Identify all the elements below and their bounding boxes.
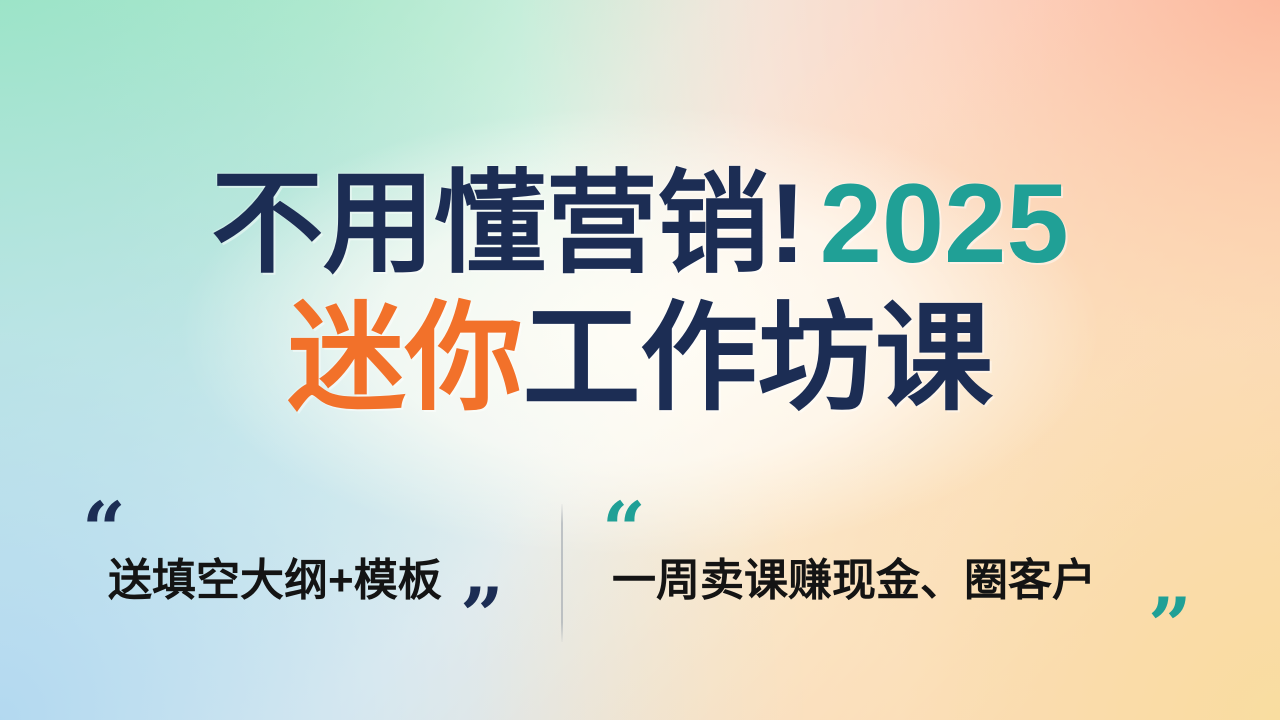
quote-text-right: 一周卖课赚现金、圈客户 xyxy=(612,544,1096,608)
headline-line-1: 不用懂营销!2025 xyxy=(0,168,1280,280)
headline-highlight-text: 迷你 xyxy=(287,293,522,425)
headline-line-2: 迷你工作坊课 xyxy=(0,300,1280,418)
quote-close-icon: ” xyxy=(1148,588,1192,664)
headline: 不用懂营销!2025 迷你工作坊课 xyxy=(0,168,1280,418)
headline-rest-text: 工作坊课 xyxy=(523,293,993,425)
quote-section: “ 送填空大纲+模板 ” “ 一周卖课赚现金、圈客户 ” xyxy=(0,490,1280,660)
quote-text-left: 送填空大纲+模板 xyxy=(108,544,442,608)
headline-year-text: 2025 xyxy=(820,161,1069,286)
quote-block-left: “ 送填空大纲+模板 ” xyxy=(60,490,540,660)
quote-divider xyxy=(561,504,563,642)
poster-canvas: 不用懂营销!2025 迷你工作坊课 “ 送填空大纲+模板 ” “ 一周卖课赚现金… xyxy=(0,0,1280,720)
quote-close-icon: ” xyxy=(460,578,504,654)
quote-block-right: “ 一周卖课赚现金、圈客户 ” xyxy=(590,490,1220,660)
headline-main-text: 不用懂营销! xyxy=(211,161,805,286)
